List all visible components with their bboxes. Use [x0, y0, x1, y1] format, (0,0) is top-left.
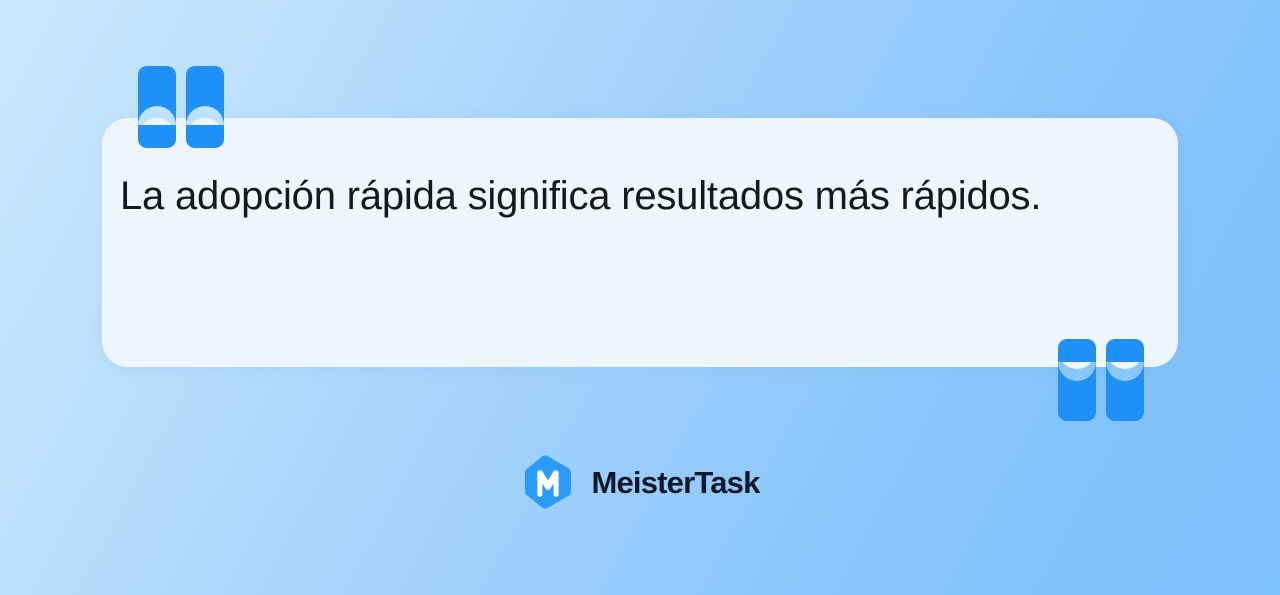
- open-quote-icon: [138, 66, 224, 148]
- brand-lockup: MeisterTask: [0, 452, 1280, 512]
- meistertask-hexagon-logo: [520, 454, 576, 510]
- close-quote-icon: [1058, 339, 1144, 421]
- open-quote-bar-left: [138, 66, 176, 148]
- brand-name: MeisterTask: [591, 467, 759, 498]
- quote-text: La adopción rápida significa resultados …: [120, 168, 1080, 225]
- close-quote-bar-left: [1106, 339, 1144, 421]
- close-quote-bar-right: [1058, 339, 1096, 421]
- quote-graphic: La adopción rápida significa resultados …: [0, 0, 1280, 595]
- quote-card: La adopción rápida significa resultados …: [102, 118, 1178, 367]
- open-quote-bar-right: [186, 66, 224, 148]
